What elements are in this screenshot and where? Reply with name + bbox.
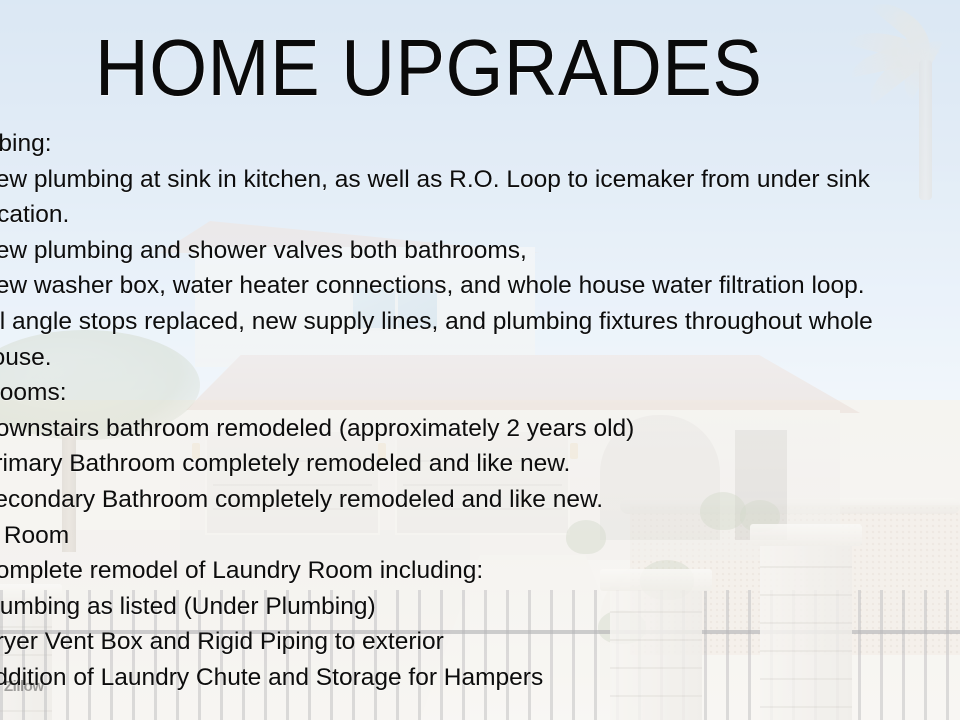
list-item: Plumbing as listed (Under Plumbing) [0, 589, 960, 625]
list-item: New plumbing at sink in kitchen, as well… [0, 162, 960, 198]
list-item: mbing: [0, 126, 960, 162]
slide-canvas: HOME UPGRADES mbing: New plumbing at sin… [0, 0, 960, 720]
list-item: Complete remodel of Laundry Room includi… [0, 553, 960, 589]
list-item: Primary Bathroom completely remodeled an… [0, 446, 960, 482]
list-item: hrooms: [0, 375, 960, 411]
list-item: Addition of Laundry Chute and Storage fo… [0, 660, 960, 696]
zillow-watermark: Zillow [4, 676, 70, 698]
list-item: Dryer Vent Box and Rigid Piping to exter… [0, 624, 960, 660]
list-item: Downstairs bathroom remodeled (approxima… [0, 411, 960, 447]
list-item: ty Room [0, 518, 960, 554]
upgrade-list: mbing: New plumbing at sink in kitchen, … [0, 126, 960, 696]
page-title: HOME UPGRADES [95, 28, 820, 108]
list-item: location. [0, 197, 960, 233]
list-item: Secondary Bathroom completely remodeled … [0, 482, 960, 518]
list-item: New plumbing and shower valves both bath… [0, 233, 960, 269]
list-item: New washer box, water heater connections… [0, 268, 960, 304]
list-item: All angle stops replaced, new supply lin… [0, 304, 960, 340]
list-item: house. [0, 340, 960, 376]
watermark-label: Zillow [4, 678, 44, 695]
